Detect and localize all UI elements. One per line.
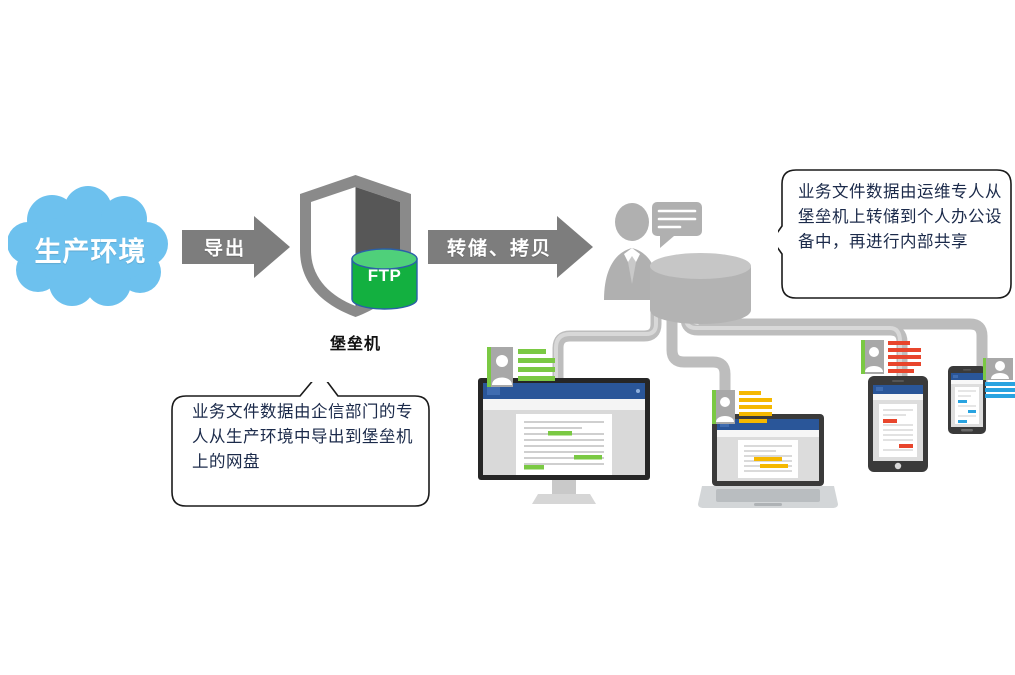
- distribution-hub-node: [648, 252, 753, 330]
- monitor-icon: [478, 378, 650, 506]
- laptop-icon: [698, 414, 838, 510]
- transfer-copy-arrow: 转储、拷贝: [428, 216, 593, 278]
- export-arrow: 导出: [182, 216, 290, 278]
- export-arrow-label: 导出: [182, 234, 290, 261]
- ftp-storage-node: FTP: [351, 248, 418, 310]
- callout-share-description: 业务文件数据由运维专人从堡垒机上转储到个人办公设备中，再进行内部共享: [778, 166, 1015, 302]
- callout-share-text: 业务文件数据由运维专人从堡垒机上转储到个人办公设备中，再进行内部共享: [798, 180, 1003, 255]
- contact-card-yellow: [712, 390, 772, 424]
- diagram-canvas: 生产环境 导出 FTP 堡垒机 转储、拷贝: [0, 0, 1015, 675]
- contact-card-icon: [983, 358, 1015, 402]
- smartphone: [948, 366, 986, 434]
- contact-card-icon: [861, 340, 921, 374]
- laptop: [698, 414, 838, 510]
- callout-export-text: 业务文件数据由企信部门的专人从生产环境中导出到堡垒机上的网盘: [192, 400, 414, 475]
- contact-card-red: [861, 340, 921, 374]
- contact-card-icon: [712, 390, 772, 424]
- contact-card-blue: [983, 358, 1015, 402]
- tablet-icon: [868, 376, 928, 472]
- desktop-monitor: [478, 378, 650, 506]
- callout-export-description: 业务文件数据由企信部门的专人从生产环境中导出到堡垒机上的网盘: [168, 382, 433, 510]
- speech-bubble-icon: [652, 202, 702, 248]
- hub-cylinder-icon: [648, 252, 753, 330]
- phone-icon: [948, 366, 986, 434]
- production-environment-node: 生产环境: [8, 186, 173, 306]
- transfer-copy-arrow-label: 转储、拷贝: [428, 234, 593, 261]
- ftp-label: FTP: [351, 266, 418, 286]
- bastion-host-label: 堡垒机: [293, 330, 418, 354]
- contact-card-green: [487, 347, 555, 387]
- tablet: [868, 376, 928, 472]
- cloud-label: 生产环境: [8, 230, 173, 269]
- contact-card-icon: [487, 347, 555, 387]
